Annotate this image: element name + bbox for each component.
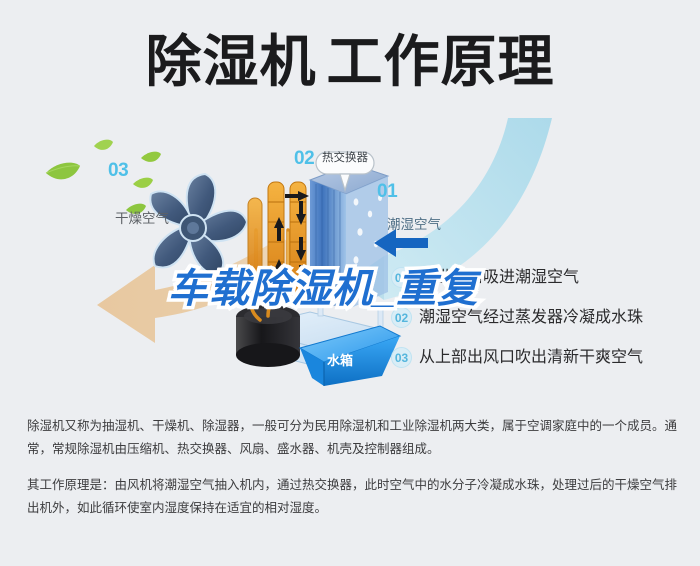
leaf-icons [46,140,161,214]
diagram-badge-dry-air: 03 [108,160,128,182]
body-paragraph-2: 其工作原理是：由风机将潮湿空气抽入机内，通过热交换器，此时空气中的水分子冷凝成水… [27,474,677,520]
legend-text-03: 从上部出风口吹出清新干爽空气 [419,347,643,368]
page-root: 除湿机工作原理 [0,0,700,566]
page-title: 除湿机工作原理 [0,28,700,96]
heat-exchanger-label: 热交换器 [322,149,368,165]
legend-badge-03: 03 [391,347,412,368]
humid-air-label: 潮湿空气 [387,213,441,233]
body-paragraph-1: 除湿机又称为抽湿机、干燥机、除湿器，一般可分为民用除湿机和工业除湿机两大类，属于… [27,415,677,461]
body-text-block: 除湿机又称为抽湿机、干燥机、除湿器，一般可分为民用除湿机和工业除湿机两大类，属于… [27,415,677,520]
page-title-part1: 除湿机 [146,30,317,93]
dry-air-label: 干燥空气 [115,207,169,227]
watermark-text: 车载除湿机_重复 [168,266,478,312]
water-tank-label: 水箱 [327,350,353,369]
diagram-badge-heat-exchanger: 02 [294,148,314,170]
diagram-badge-humid-air: 01 [377,181,397,203]
watermark-label: 车载除湿机_重复 [168,267,478,311]
page-title-part2: 工作原理 [327,30,555,93]
legend-item-03: 03 从上部出风口吹出清新干爽空气 [391,342,691,373]
